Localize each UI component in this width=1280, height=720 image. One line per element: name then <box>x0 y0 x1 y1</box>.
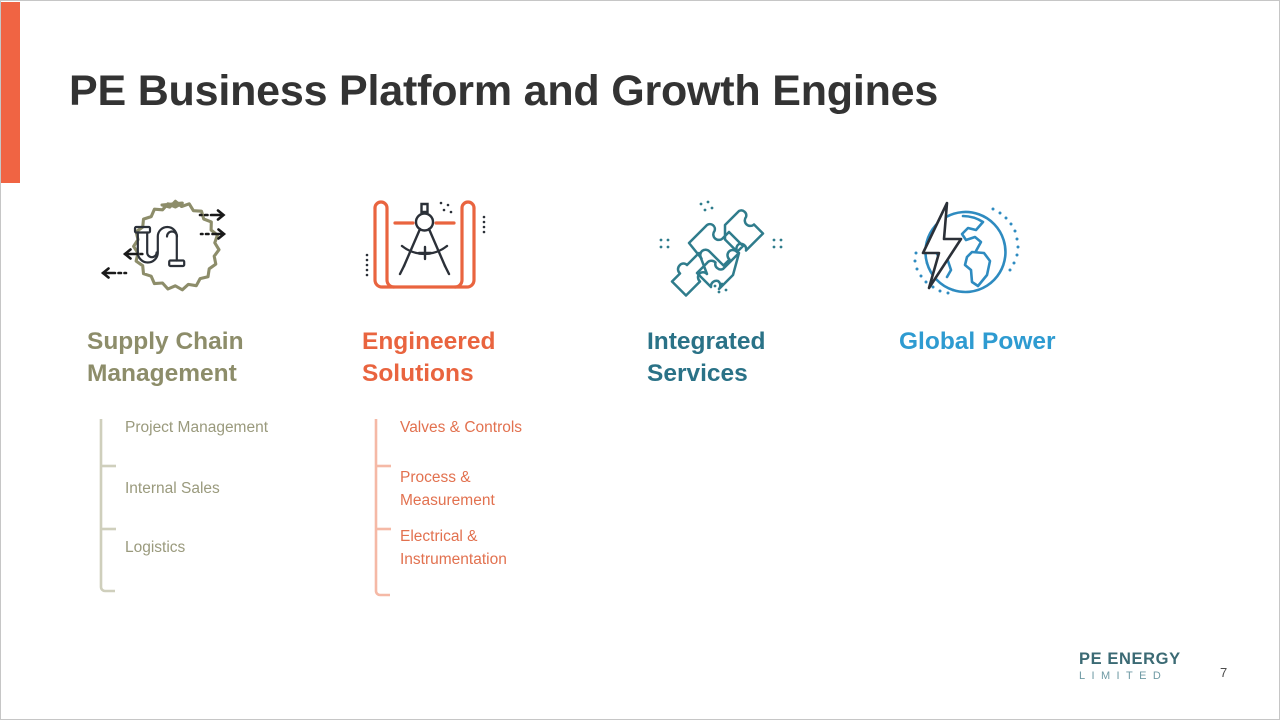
bracket-line <box>370 417 392 605</box>
list-item: Project Management <box>125 417 327 439</box>
list-item: Process & Measurement <box>400 467 592 512</box>
list-item: Electrical & Instrumentation <box>400 526 592 571</box>
accent-bar <box>1 2 20 183</box>
list-item: Internal Sales <box>125 478 327 500</box>
list-item: Logistics <box>125 537 327 559</box>
gear-supply-chain-icon <box>87 191 237 303</box>
blueprint-compass-icon <box>362 191 512 303</box>
company-logo: PE ENERGY LIMITED <box>1079 651 1205 682</box>
column-supply-chain-management: Supply Chain Management Project Manageme… <box>87 191 327 559</box>
column-heading: Engineered Solutions <box>362 326 592 391</box>
column-global-power: Global Power <box>899 191 1149 358</box>
column-engineered-solutions: Engineered Solutions Valves & Controls P… <box>362 191 592 571</box>
column-heading: Integrated Services <box>647 326 877 391</box>
puzzle-pieces-icon <box>647 191 797 303</box>
column-integrated-services: Integrated Services <box>647 191 877 391</box>
page-title: PE Business Platform and Growth Engines <box>69 67 938 116</box>
page-number: 7 <box>1220 665 1227 680</box>
sublist-engineered-solutions: Valves & Controls Process & Measurement … <box>362 417 592 571</box>
list-item: Valves & Controls <box>400 417 592 439</box>
globe-lightning-icon <box>899 191 1029 303</box>
bracket-line <box>95 417 117 593</box>
sublist-supply-chain: Project Management Internal Sales Logist… <box>87 417 327 559</box>
column-heading: Supply Chain Management <box>87 326 327 391</box>
slide-canvas: PE Business Platform and Growth Engines <box>0 0 1280 720</box>
logo-sub-text: LIMITED <box>1079 671 1205 682</box>
logo-main-text: PE ENERGY <box>1079 651 1205 668</box>
column-heading: Global Power <box>899 326 1149 358</box>
